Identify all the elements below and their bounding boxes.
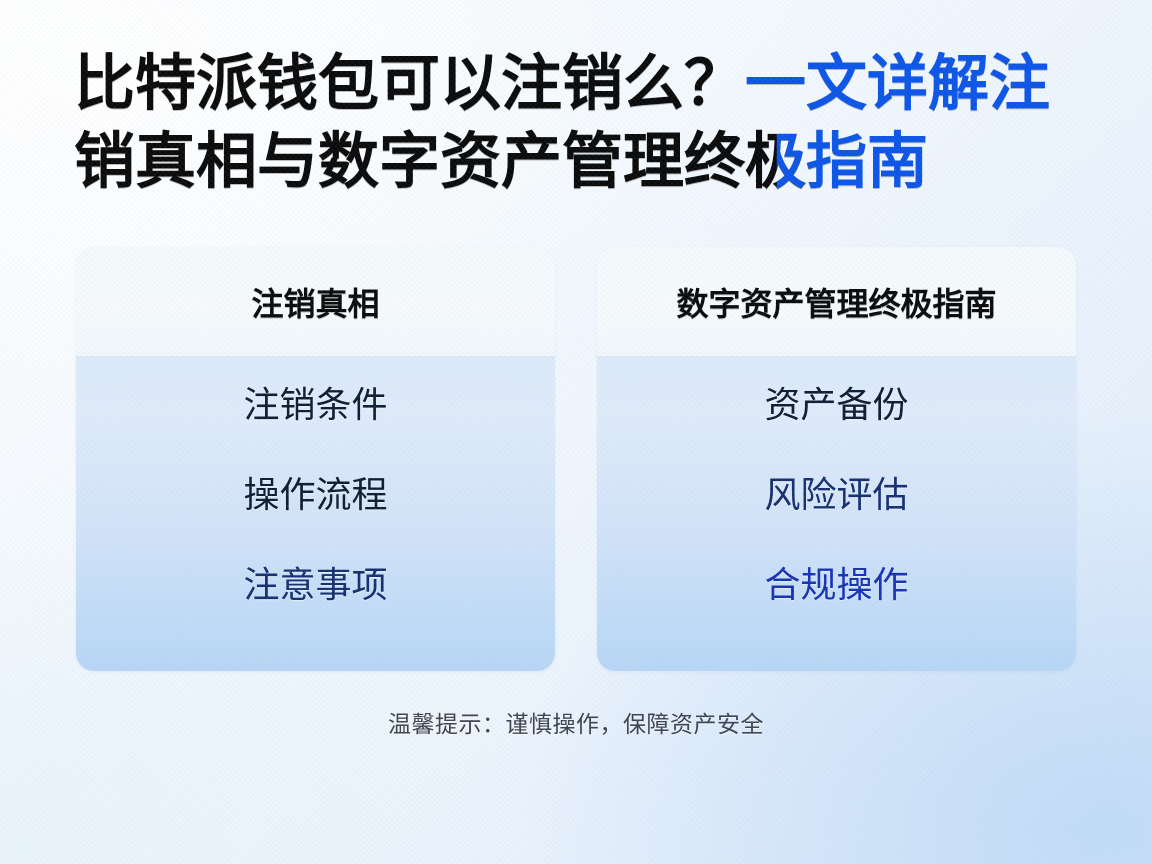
list-item[interactable]: 合规操作	[597, 563, 1076, 653]
poster-canvas: 比特派钱包可以注销么？一文详解注 销真相与数字资产管理终极指南 注销真相 注销条…	[0, 0, 1152, 864]
card-body-right: 资产备份 风险评估 合规操作	[597, 356, 1076, 671]
list-item[interactable]: 注意事项	[76, 563, 555, 653]
card-row: 注销真相 注销条件 操作流程 注意事项 数字资产管理终极指南 资产备份 风险评估…	[76, 247, 1076, 671]
list-item[interactable]: 风险评估	[597, 473, 1076, 563]
page-title: 比特派钱包可以注销么？一文详解注 销真相与数字资产管理终极指南	[74, 44, 1094, 200]
list-item[interactable]: 资产备份	[597, 383, 1076, 473]
title-line-1-highlight: 一文详解注	[745, 49, 1050, 117]
footer-tip-text: 温馨提示：谨慎操作，保障资产安全	[0, 705, 1152, 739]
title-split-character: 极	[745, 122, 806, 200]
title-line-1: 比特派钱包可以注销么？一文详解注	[74, 44, 1094, 122]
title-line-2-highlight: 指南	[806, 127, 928, 195]
title-line-1-black: 比特派钱包可以注销么？	[74, 49, 745, 117]
card-asset-management-guide: 数字资产管理终极指南 资产备份 风险评估 合规操作	[597, 247, 1076, 671]
card-header-left: 注销真相	[76, 247, 555, 356]
card-body-left: 注销条件 操作流程 注意事项	[76, 356, 555, 671]
card-header-right-title: 数字资产管理终极指南	[676, 279, 996, 325]
card-header-right: 数字资产管理终极指南	[597, 247, 1076, 356]
title-line-2: 销真相与数字资产管理终极指南	[74, 122, 1094, 200]
card-header-left-title: 注销真相	[251, 279, 379, 325]
list-item[interactable]: 注销条件	[76, 383, 555, 473]
card-cancellation-truth: 注销真相 注销条件 操作流程 注意事项	[76, 247, 555, 671]
title-line-2-black: 销真相与数字资产管理终	[74, 127, 745, 195]
list-item[interactable]: 操作流程	[76, 473, 555, 563]
